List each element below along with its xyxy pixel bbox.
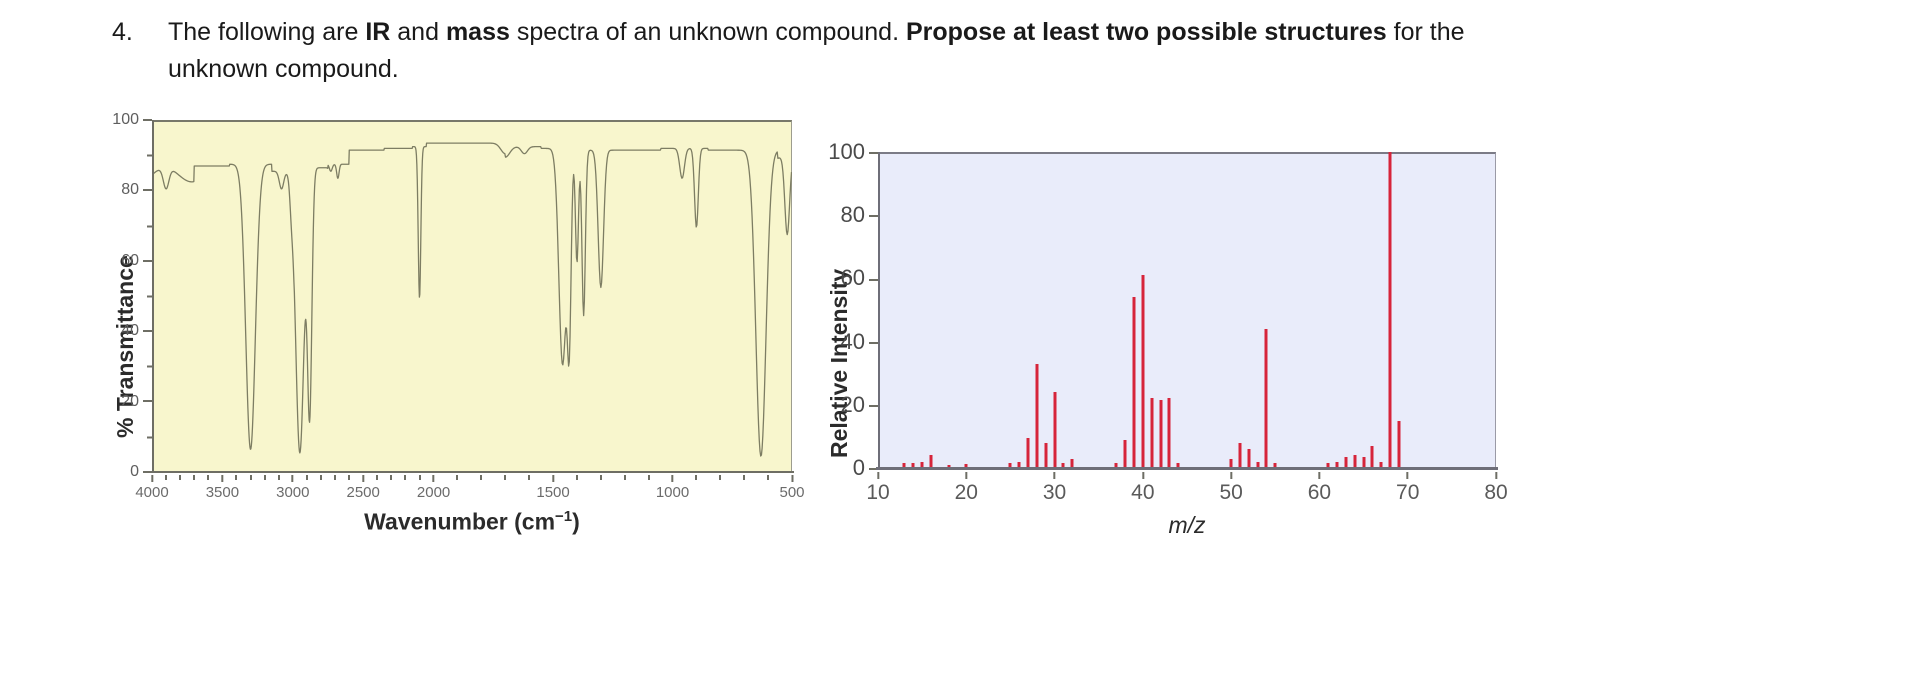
ir-x-tick-4000: 4000 xyxy=(135,475,168,501)
ms-peak-68 xyxy=(1389,152,1392,468)
ir-x-minor-tick xyxy=(278,475,280,480)
question-text: The following are IR and mass spectra of… xyxy=(168,14,1465,88)
ms-x-tick-30: 30 xyxy=(1043,472,1066,505)
ir-x-minor-tick xyxy=(419,475,421,480)
ir-x-minor-tick xyxy=(600,475,602,480)
question-text-seg-1: The following are xyxy=(168,18,365,46)
ir-x-axis-title: Wavenumber (cm−1) xyxy=(152,508,792,536)
ms-y-tick-label: 100 xyxy=(828,139,865,164)
ms-x-tick-70: 70 xyxy=(1396,472,1419,505)
ms-x-tick-60: 60 xyxy=(1308,472,1331,505)
ms-peak-41 xyxy=(1150,398,1153,468)
ir-x-tickmark xyxy=(151,475,153,482)
ms-y-tickmark xyxy=(869,215,878,217)
ms-x-tick-label: 30 xyxy=(1043,481,1066,504)
ir-x-tick-label: 2500 xyxy=(347,484,380,501)
ir-x-tick-1000: 1000 xyxy=(656,475,689,501)
ms-x-tick-label: 40 xyxy=(1131,481,1154,504)
ir-x-tickmark xyxy=(791,475,793,482)
ms-y-tick-60: 60 xyxy=(841,265,878,291)
question-text-seg-4: for the xyxy=(1387,18,1465,46)
ms-y-tickmark xyxy=(869,152,878,154)
ms-peak-30 xyxy=(1053,392,1056,468)
ir-x-tick-3000: 3000 xyxy=(276,475,309,501)
ir-x-tick-label: 500 xyxy=(779,484,804,501)
ms-x-tick-10: 10 xyxy=(866,472,889,505)
ms-x-tick-label: 80 xyxy=(1484,481,1507,504)
ms-peak-29 xyxy=(1044,443,1047,468)
question-text-bold-propose: Propose at least two possible structures xyxy=(906,18,1387,46)
ir-trace xyxy=(152,122,792,474)
ir-y-tickmark xyxy=(143,330,152,332)
ms-peak-39 xyxy=(1133,297,1136,468)
ir-x-minor-tick xyxy=(306,475,308,480)
ms-peak-54 xyxy=(1265,329,1268,468)
ir-x-tick-label: 1000 xyxy=(656,484,689,501)
ms-x-tick-label: 70 xyxy=(1396,481,1419,504)
ir-x-minor-tick xyxy=(695,475,697,480)
ir-y-tick-100: 100 xyxy=(112,111,152,129)
ir-y-tickmark xyxy=(143,260,152,262)
ms-x-tickmark xyxy=(1142,472,1144,479)
ms-peak-40 xyxy=(1141,275,1144,468)
ir-x-tickmark xyxy=(221,475,223,482)
question-line-2: unknown compound. xyxy=(168,51,1465,88)
ir-x-minor-tick xyxy=(743,475,745,480)
ir-y-tick-20: 20 xyxy=(121,393,152,411)
ir-x-minor-tick xyxy=(648,475,650,480)
ms-peak-51 xyxy=(1238,443,1241,468)
question-text-seg-2: and xyxy=(390,18,446,46)
ms-x-tick-label: 20 xyxy=(955,481,978,504)
ir-x-minor-tick xyxy=(376,475,378,480)
question-line-1: 4. The following are IR and mass spectra… xyxy=(112,14,1532,88)
ir-x-tickmark xyxy=(672,475,674,482)
ms-y-tickmark xyxy=(869,279,878,281)
ir-x-tick-2500: 2500 xyxy=(347,475,380,501)
ir-x-axis-line xyxy=(150,471,794,473)
ir-y-tickmark xyxy=(143,400,152,402)
question-text-bold-mass: mass xyxy=(446,18,510,46)
ir-x-minor-tick xyxy=(576,475,578,480)
ir-x-minor-tick xyxy=(390,475,392,480)
ms-peak-43 xyxy=(1168,398,1171,468)
ms-y-tick-100: 100 xyxy=(828,139,878,165)
ir-x-tickmark xyxy=(552,475,554,482)
question-text-bold-ir: IR xyxy=(365,18,390,46)
ir-x-tick-label: 3500 xyxy=(206,484,239,501)
ir-y-axis-ticks: 020406080100 xyxy=(110,108,152,473)
ir-x-tick-3500: 3500 xyxy=(206,475,239,501)
ir-x-minor-tick xyxy=(528,475,530,480)
ir-y-axis-line xyxy=(152,120,154,472)
ms-peak-27 xyxy=(1027,438,1030,468)
ms-peak-66 xyxy=(1371,446,1374,468)
ir-x-minor-tick xyxy=(264,475,266,480)
ir-x-tick-2000: 2000 xyxy=(417,475,450,501)
ms-y-tickmark xyxy=(869,342,878,344)
ms-x-tickmark xyxy=(1054,472,1056,479)
ir-x-minor-tick xyxy=(207,475,209,480)
ir-y-tick-label: 20 xyxy=(121,393,139,410)
ir-x-axis-title-exponent: −1 xyxy=(555,508,572,525)
ir-y-tickmark xyxy=(143,189,152,191)
ir-y-tick-40: 40 xyxy=(121,322,152,340)
ms-peak-42 xyxy=(1159,400,1162,468)
ms-x-tickmark xyxy=(1495,472,1497,479)
ir-x-tick-1500: 1500 xyxy=(536,475,569,501)
ms-x-axis-title: m/z xyxy=(878,512,1496,539)
ir-x-axis-title-text: Wavenumber (cm xyxy=(364,509,555,535)
ms-peak-69 xyxy=(1397,421,1400,468)
ms-x-tickmark xyxy=(877,472,879,479)
ir-y-minor-tick-70 xyxy=(143,217,152,234)
ir-x-minor-tick xyxy=(193,475,195,480)
ms-y-tick-80: 80 xyxy=(841,202,878,228)
ir-y-tick-label: 80 xyxy=(121,181,139,198)
ms-y-tick-40: 40 xyxy=(841,329,878,355)
ms-y-axis-ticks: 020406080100 xyxy=(820,140,878,470)
ir-x-minor-tick xyxy=(250,475,252,480)
question-text-seg-3: spectra of an unknown compound. xyxy=(510,18,906,46)
ir-y-tick-label: 40 xyxy=(121,322,139,339)
ir-y-minor-tick-10 xyxy=(143,428,152,445)
ir-x-minor-tick xyxy=(235,475,237,480)
ms-x-tick-40: 40 xyxy=(1131,472,1154,505)
ms-y-tick-label: 60 xyxy=(841,265,865,290)
ms-y-tick-label: 20 xyxy=(841,392,865,417)
ms-y-tick-label: 0 xyxy=(853,455,865,480)
ir-x-minor-tick xyxy=(165,475,167,480)
ir-x-minor-tick xyxy=(719,475,721,480)
ms-x-tick-label: 50 xyxy=(1219,481,1242,504)
ms-y-tickmark xyxy=(869,405,878,407)
ir-x-tickmark xyxy=(433,475,435,482)
ir-spectrum-figure: % Transmittance 020406080100 40003500300… xyxy=(110,108,810,558)
ms-x-tick-50: 50 xyxy=(1219,472,1242,505)
ir-x-minor-tick xyxy=(767,475,769,480)
ms-x-tickmark xyxy=(1318,472,1320,479)
ms-x-tickmark xyxy=(1407,472,1409,479)
ir-x-tick-500: 500 xyxy=(779,475,804,501)
ms-peak-28 xyxy=(1035,364,1038,468)
ir-trace-path xyxy=(152,143,792,456)
ir-x-minor-tick xyxy=(320,475,322,480)
ms-x-tickmark xyxy=(965,472,967,479)
ms-x-tickmark xyxy=(1230,472,1232,479)
ir-y-minor-tick-90 xyxy=(143,147,152,164)
ir-y-tick-label: 60 xyxy=(121,252,139,269)
question-block: 4. The following are IR and mass spectra… xyxy=(112,14,1532,88)
ms-plot-area xyxy=(878,152,1496,468)
ms-y-tick-20: 20 xyxy=(841,392,878,418)
ms-x-tick-label: 60 xyxy=(1308,481,1331,504)
ms-x-tick-80: 80 xyxy=(1484,472,1507,505)
ir-x-tick-label: 1500 xyxy=(536,484,569,501)
ir-x-minor-tick xyxy=(456,475,458,480)
ms-x-tick-label: 10 xyxy=(866,481,889,504)
ir-x-axis-title-close: ) xyxy=(572,509,580,535)
ms-peak-38 xyxy=(1124,440,1127,468)
ir-y-tickmark xyxy=(143,119,152,121)
ir-x-minor-tick xyxy=(480,475,482,480)
ms-peak-52 xyxy=(1247,449,1250,468)
ir-plot-area xyxy=(152,120,792,472)
ir-y-minor-tick-30 xyxy=(143,358,152,375)
ir-x-minor-tick xyxy=(624,475,626,480)
ms-x-axis-line xyxy=(876,467,1498,470)
ms-y-tick-label: 40 xyxy=(841,329,865,354)
ir-x-minor-tick xyxy=(504,475,506,480)
ir-x-minor-tick xyxy=(348,475,350,480)
ir-x-tick-label: 2000 xyxy=(417,484,450,501)
ms-x-tick-20: 20 xyxy=(955,472,978,505)
ir-x-tickmark xyxy=(362,475,364,482)
ir-x-minor-tick xyxy=(179,475,181,480)
ir-y-tick-60: 60 xyxy=(121,252,152,270)
ir-x-tick-label: 3000 xyxy=(276,484,309,501)
ir-y-minor-tick-50 xyxy=(143,288,152,305)
mass-spectrum-figure: Relative Intensity 020406080100 10203040… xyxy=(820,140,1540,580)
ir-y-tick-80: 80 xyxy=(121,181,152,199)
ms-y-axis-line xyxy=(878,152,880,468)
ir-x-minor-tick xyxy=(334,475,336,480)
ir-x-tickmark xyxy=(292,475,294,482)
ir-x-minor-tick xyxy=(404,475,406,480)
ir-x-tick-label: 4000 xyxy=(135,484,168,501)
ir-y-tick-label: 100 xyxy=(112,111,139,128)
question-number: 4. xyxy=(112,14,168,51)
ms-y-tick-label: 80 xyxy=(841,202,865,227)
